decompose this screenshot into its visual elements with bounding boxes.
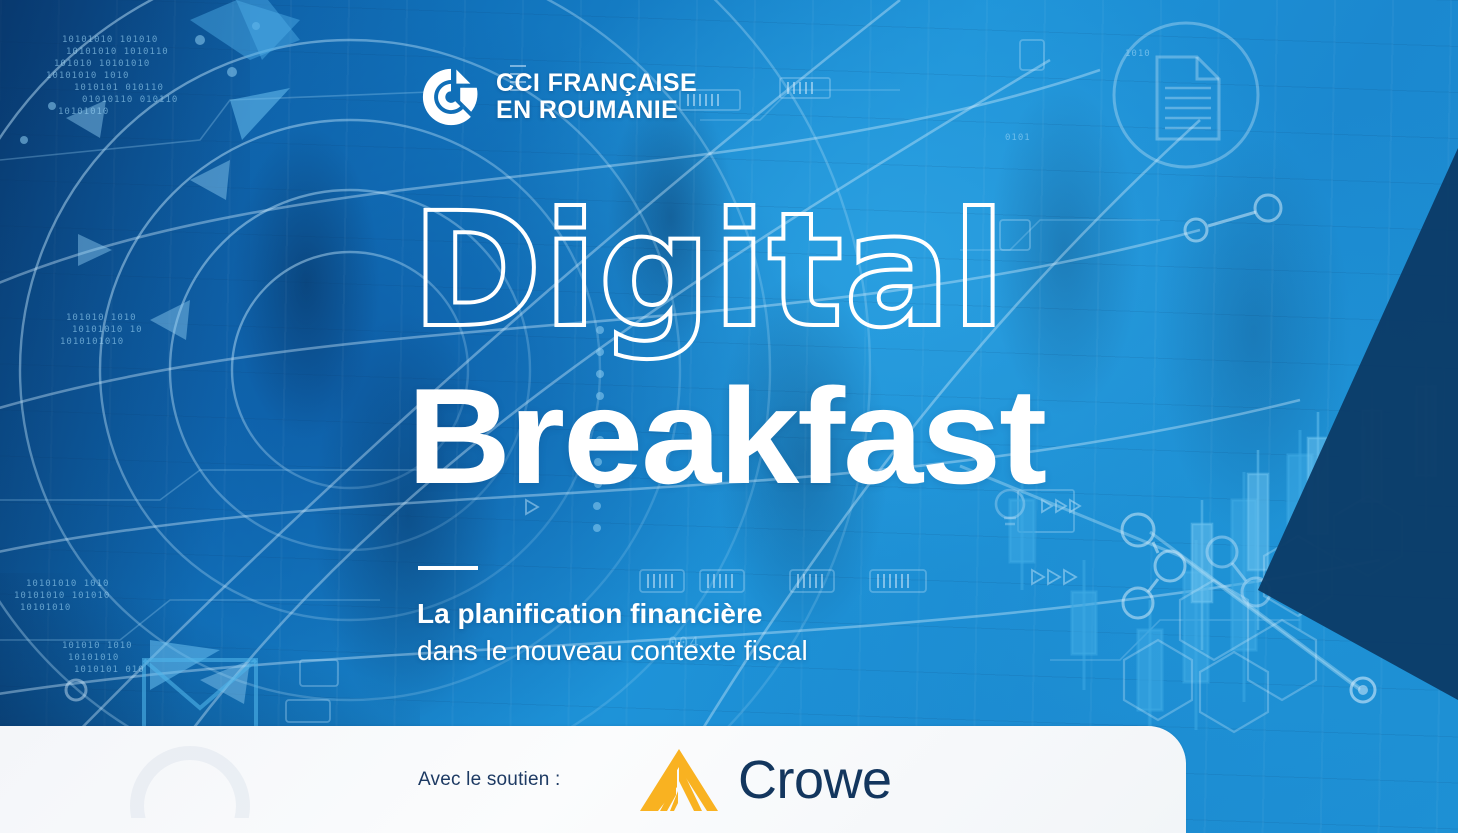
hero-title-outline: Digital [411,196,1007,348]
crowe-chevron-icon [636,747,722,813]
cci-name-line-2: EN ROUMANIE [496,97,697,124]
cci-logo-lockup: CCI FRANÇAISE EN ROUMANIE [420,66,697,128]
subtitle-line-2: dans le nouveau contexte fiscal [417,633,808,670]
subtitle-line-1: La planification financière [417,596,808,633]
panel-watermark-circle [130,746,250,833]
cci-name-line-1: CCI FRANÇAISE [496,70,697,97]
hero-subtitle: La planification financière dans le nouv… [417,596,808,670]
crowe-wordmark: Crowe [738,753,892,807]
sponsor-panel: Avec le soutien : Crowe [0,726,1186,833]
support-label: Avec le soutien : [418,726,560,833]
poster-canvas: 10101010 101010 10101010 1010110 101010 … [0,0,1458,833]
hero-title-solid: Breakfast [407,368,1045,504]
cci-target-logo-icon [420,66,482,128]
crowe-logo-lockup[interactable]: Crowe [636,726,892,833]
subtitle-divider [418,566,478,570]
